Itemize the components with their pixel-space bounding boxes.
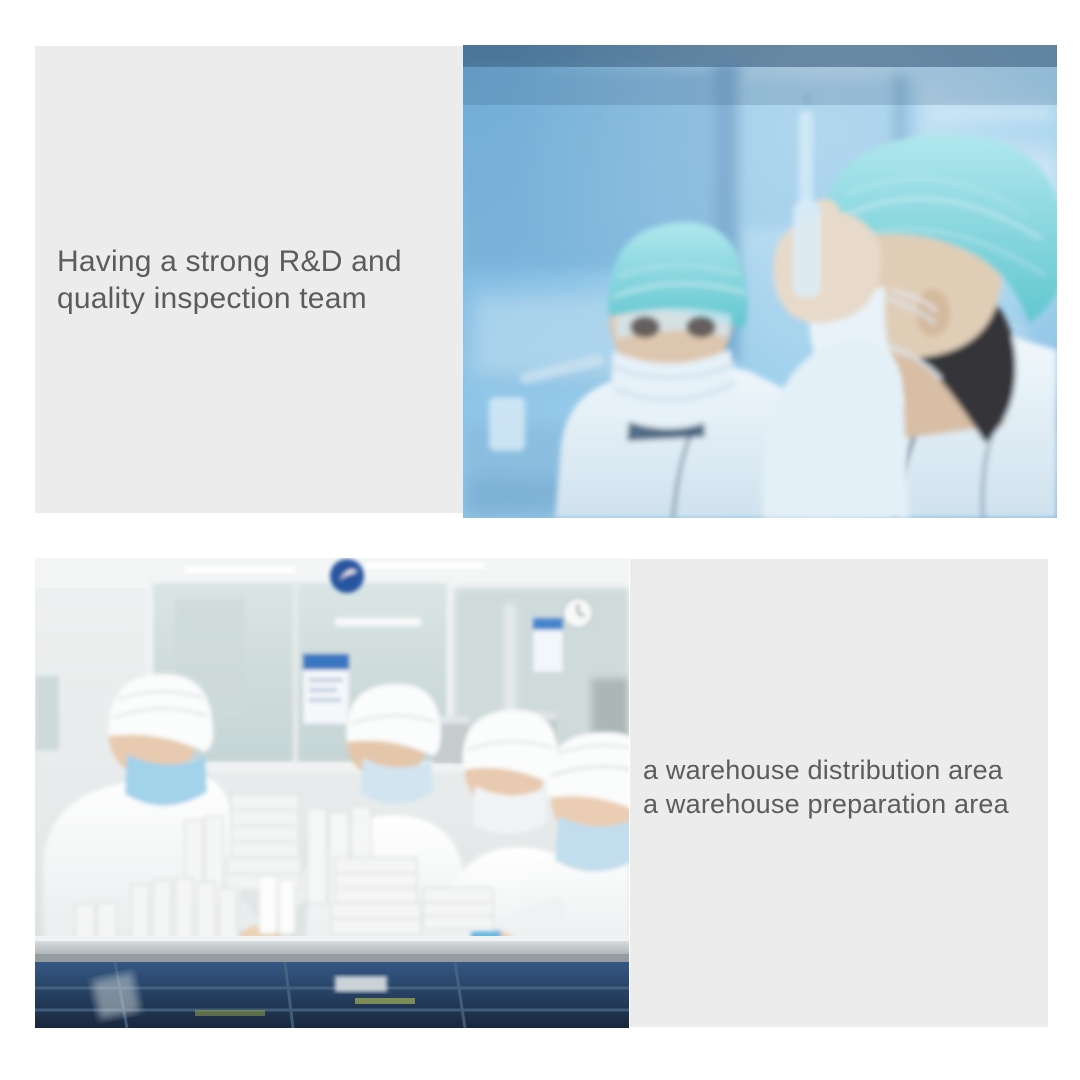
warehouse-caption-line-1: a warehouse distribution area bbox=[643, 753, 1009, 787]
rnd-caption-line-2: quality inspection team bbox=[57, 280, 402, 317]
slide-canvas: Having a strong R&D and quality inspecti… bbox=[0, 0, 1080, 1080]
warehouse-caption-line-2: a warehouse preparation area bbox=[643, 787, 1009, 821]
warehouse-caption: a warehouse distribution area a warehous… bbox=[643, 753, 1009, 821]
lab-inspection-photo bbox=[463, 45, 1057, 518]
warehouse-packing-photo bbox=[35, 558, 629, 1028]
rnd-caption: Having a strong R&D and quality inspecti… bbox=[57, 243, 402, 317]
rnd-caption-line-1: Having a strong R&D and bbox=[57, 243, 402, 280]
